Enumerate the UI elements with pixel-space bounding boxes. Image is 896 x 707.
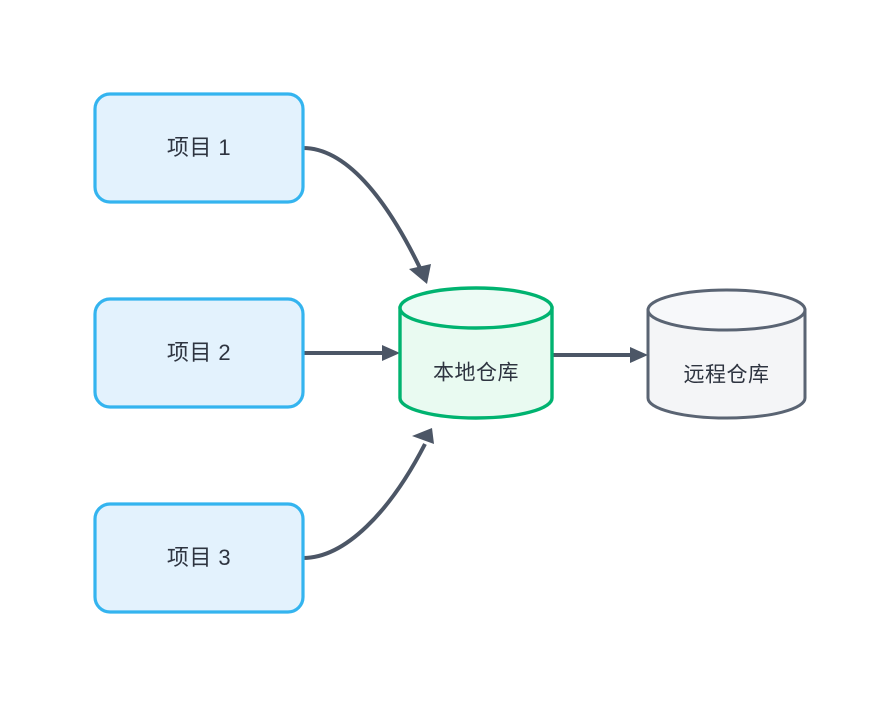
node-layer: 项目 1 项目 2 项目 3 本地仓库 远程仓库	[95, 94, 805, 612]
node-project2[interactable]: 项目 2	[95, 299, 303, 407]
node-local-repo-top	[400, 288, 552, 328]
edge-local-remote[interactable]	[552, 347, 648, 363]
node-project1-label: 项目 1	[167, 135, 231, 160]
edge-project2-local-arrowhead	[382, 345, 400, 361]
node-remote-repo-label: 远程仓库	[684, 364, 770, 387]
edge-project3-local-arrowhead	[412, 428, 434, 444]
node-project3[interactable]: 项目 3	[95, 504, 303, 612]
edge-local-remote-arrowhead	[630, 347, 648, 363]
edge-project1-local[interactable]	[303, 148, 431, 284]
node-local-repo[interactable]: 本地仓库	[400, 288, 552, 418]
node-remote-repo-top	[648, 290, 805, 330]
node-project1[interactable]: 项目 1	[95, 94, 303, 202]
node-remote-repo[interactable]: 远程仓库	[648, 290, 805, 418]
diagram-canvas: 项目 1 项目 2 项目 3 本地仓库 远程仓库	[0, 0, 896, 707]
edge-project1-local-path	[303, 148, 420, 268]
edge-project3-local-path	[303, 444, 425, 558]
edge-project1-local-arrowhead	[409, 264, 431, 284]
edge-project2-local[interactable]	[303, 345, 400, 361]
node-project2-label: 项目 2	[167, 340, 231, 365]
edge-project3-local[interactable]	[303, 428, 434, 558]
node-project3-label: 项目 3	[167, 545, 231, 570]
node-local-repo-label: 本地仓库	[433, 362, 519, 385]
